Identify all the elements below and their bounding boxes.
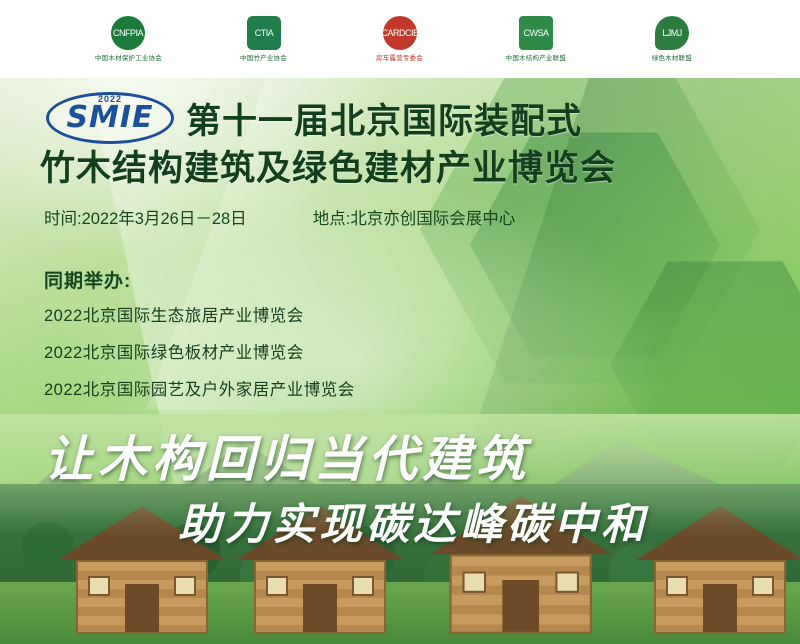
tree-emblem-icon: CNFPIA xyxy=(111,16,145,50)
cabin-window xyxy=(174,576,196,596)
exhibition-poster: CNFPIA 中国木材保护工业协会 CTIA 中国竹产业协会 CARDCIE 房… xyxy=(0,0,800,644)
cabin-window xyxy=(752,576,774,596)
cabin-body xyxy=(449,554,592,634)
cabin-body xyxy=(254,560,386,634)
cabin-door xyxy=(125,584,159,632)
event-place-label: 地点:北京亦创国际会展中心 xyxy=(313,205,516,229)
cabin-body xyxy=(654,560,786,634)
event-time-label: 时间:2022年3月26日－28日 xyxy=(44,205,247,229)
cabin-window xyxy=(555,571,579,593)
smie-logo: 2022 SMIE xyxy=(46,92,174,144)
list-item: 2022北京国际园艺及户外家居产业博览会 xyxy=(44,376,355,400)
cabin-window xyxy=(88,576,110,596)
association-logo: CARDCIE 房车露营专委会 xyxy=(352,16,448,63)
association-logo-label: 中国木材保护工业协会 xyxy=(94,53,161,62)
association-logo: CTIA 中国竹产业协会 xyxy=(216,16,312,63)
bamboo-emblem-icon: CTIA xyxy=(247,16,281,50)
slogan-line-2: 助力实现碳达峰碳中和 xyxy=(178,490,648,552)
association-logo-label: 中国木结构产业联盟 xyxy=(506,53,566,62)
event-meta-row: 时间:2022年3月26日－28日 地点:北京亦创国际会展中心 xyxy=(44,205,515,229)
house-emblem-icon: CWSA xyxy=(519,16,553,50)
cabin-window xyxy=(462,571,486,593)
association-logo-band: CNFPIA 中国木材保护工业协会 CTIA 中国竹产业协会 CARDCIE 房… xyxy=(0,0,800,78)
cabin-window xyxy=(666,576,688,596)
association-logo: CWSA 中国木结构产业联盟 xyxy=(488,16,584,63)
association-logo: LJMJ 绿色木材联盟 xyxy=(624,16,720,63)
concurrent-events-title: 同期举办: xyxy=(44,266,131,293)
caravan-emblem-icon: CARDCIE xyxy=(383,16,417,50)
cabin-window xyxy=(352,576,374,596)
leaf-emblem-icon: LJMJ xyxy=(655,16,689,50)
association-logo: CNFPIA 中国木材保护工业协会 xyxy=(80,16,176,63)
cabin-window xyxy=(266,576,288,596)
association-logo-label: 中国竹产业协会 xyxy=(240,53,287,62)
association-logo-label: 绿色木材联盟 xyxy=(652,53,692,62)
page-title-line-1: 第十一届北京国际装配式 xyxy=(186,93,582,144)
slogan-line-1: 让木构回归当代建筑 xyxy=(44,420,530,491)
cabin-door xyxy=(502,580,539,632)
association-logo-label: 房车露营专委会 xyxy=(376,53,423,62)
cabin-door xyxy=(703,584,737,632)
page-title-line-2: 竹木结构建筑及绿色建材产业博览会 xyxy=(40,140,616,191)
list-item: 2022北京国际生态旅居产业博览会 xyxy=(44,302,355,326)
cabin-body xyxy=(76,560,208,634)
smie-logo-wordmark: SMIE xyxy=(46,100,174,135)
cabin-door xyxy=(303,584,337,632)
concurrent-events-list: 2022北京国际生态旅居产业博览会 2022北京国际绿色板材产业博览会 2022… xyxy=(44,302,355,413)
list-item: 2022北京国际绿色板材产业博览会 xyxy=(44,339,355,363)
